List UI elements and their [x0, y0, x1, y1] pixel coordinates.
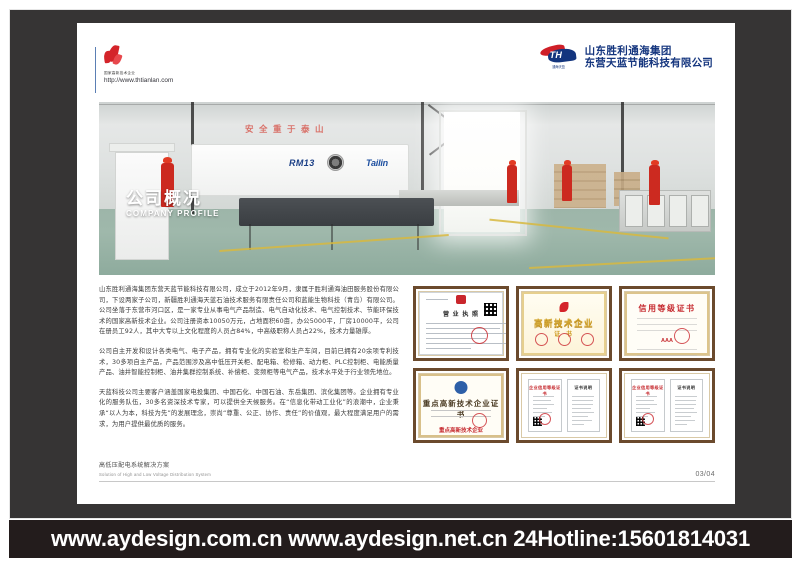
red-seal-icon: [539, 413, 551, 425]
flame-logo-icon: [104, 45, 124, 67]
right-brand-block: TH 通海天蓝 山东胜利通海集团 东营天蓝节能科技有限公司: [539, 44, 713, 70]
certificate-high-tech-enterprise[interactable]: 高新技术企业 证 书: [516, 286, 612, 361]
safety-slogan-banner: 安全重于泰山: [245, 123, 329, 135]
award-badge-icon: [455, 381, 468, 394]
red-seal-icon: [472, 413, 487, 428]
certificate-title: 信用等级证书: [627, 303, 707, 314]
th-monogram-icon: TH 通海天蓝: [539, 44, 579, 70]
footer-titles: 高低压配电系统解决方案 Solution of High and Low Vol…: [99, 462, 211, 478]
dark-stage-backdrop: 国家高新技术企业 http://www.thtianlan.com TH 通海天…: [9, 9, 792, 519]
company-name-block: 山东胜利通海集团 东营天蓝节能科技有限公司: [585, 45, 713, 69]
page-footer: 高低压配电系统解决方案 Solution of High and Low Vol…: [99, 462, 715, 482]
certificate-row-1: 营 业 执 照: [413, 286, 715, 361]
red-seal-icon: [558, 333, 571, 346]
group-name-line: 山东胜利通海集团: [585, 45, 713, 57]
worker-figure: [161, 163, 174, 207]
table-leg: [331, 224, 333, 250]
red-seal-icon: [471, 327, 488, 344]
paragraph-2: 公司自主开发和设计各类电气、电子产品，拥有专业化的实验室和生产车间，目前已拥有2…: [99, 347, 399, 379]
certificate-business-license[interactable]: 营 业 执 照: [413, 286, 509, 361]
company-website-url[interactable]: http://www.thtianlan.com: [104, 76, 264, 85]
certificate-title: 高新技术企业: [524, 317, 604, 329]
page-header: 国家高新技术企业 http://www.thtianlan.com TH 通海天…: [77, 23, 735, 97]
seal-row: [524, 333, 604, 346]
credit-grade-value: AAA: [627, 338, 707, 344]
document-title: 证书说明: [671, 385, 703, 391]
certificate-paired-documents-2[interactable]: 企业信用等级证书 证书说明: [619, 368, 715, 443]
footer-divider: [99, 481, 715, 482]
red-seal-icon: [535, 333, 548, 346]
machine-brand-label: Tailin: [366, 158, 388, 168]
document-page-right: 证书说明: [670, 379, 704, 432]
document-title: 证书说明: [568, 385, 600, 391]
certificate-gallery: 营 业 执 照: [413, 285, 715, 453]
th-monogram-letters: TH: [550, 50, 563, 60]
table-leg: [249, 224, 251, 250]
left-brand-block: 国家高新技术企业 http://www.thtianlan.com: [104, 45, 264, 85]
company-name-line: 东营天蓝节能科技有限公司: [585, 57, 713, 69]
flame-logo-icon: [560, 302, 569, 312]
cabinet-hood: [109, 143, 175, 152]
worker-figure: [649, 165, 660, 205]
page-content: 山东胜利通海集团东营天蓝节能科技有限公司，成立于2012年9月，隶属于胜利通海油…: [99, 285, 715, 453]
certificate-row-2: 重点高新技术企业证书 重点高新技术企业: [413, 368, 715, 443]
worker-figure: [562, 165, 572, 201]
certificate-science-award[interactable]: 重点高新技术企业证书 重点高新技术企业: [413, 368, 509, 443]
certificate-paired-documents-1[interactable]: 企业信用等级证书 证书说明: [516, 368, 612, 443]
photo-ceiling-rail: [99, 104, 715, 105]
switchgear-row: [619, 190, 711, 232]
national-emblem-icon: [456, 295, 466, 304]
company-description-column: 山东胜利通海集团东营天蓝节能科技有限公司，成立于2012年9月，隶属于胜利通海油…: [99, 285, 399, 453]
machine-dial-icon: [327, 154, 344, 171]
document-page-right: 证书说明: [567, 379, 601, 432]
promo-banner: www.aydesign.com.cn www.aydesign.net.cn …: [9, 520, 792, 558]
punch-machine: [191, 144, 409, 196]
certificate-credit-rating[interactable]: 信用等级证书 AAA: [619, 286, 715, 361]
document-page-left: 企业信用等级证书: [631, 379, 665, 432]
th-monogram-subtext: 通海天蓝: [545, 64, 573, 69]
brochure-page: 国家高新技术企业 http://www.thtianlan.com TH 通海天…: [77, 23, 735, 504]
award-designation: 重点高新技术企业: [421, 426, 501, 434]
certificate-title: 营 业 执 照: [420, 309, 502, 318]
worker-figure: [507, 165, 517, 203]
machine-model-label: RM13: [289, 158, 315, 168]
red-seal-icon: [581, 333, 594, 346]
red-seal-icon: [674, 328, 690, 344]
factory-photo: 安全重于泰山 RM13 Tailin: [99, 102, 715, 275]
document-page-left: 企业信用等级证书: [528, 379, 562, 432]
red-seal-icon: [642, 413, 654, 425]
machine-worktable: [239, 198, 434, 226]
footer-title-en: Solution of High and Low Voltage Distrib…: [99, 471, 211, 478]
paragraph-3: 天蓝科技公司主要客户涵盖国家电投集团、中国石化、中国石油、东岳集团、滨化集团等。…: [99, 388, 399, 430]
footer-title-cn: 高低压配电系统解决方案: [99, 462, 211, 471]
page-number: 03/04: [695, 471, 715, 478]
promo-banner-text: www.aydesign.com.cn www.aydesign.net.cn …: [51, 526, 750, 552]
paragraph-1: 山东胜利通海集团东营天蓝节能科技有限公司，成立于2012年9月，隶属于胜利通海油…: [99, 285, 399, 338]
screenshot-canvas: 国家高新技术企业 http://www.thtianlan.com TH 通海天…: [0, 0, 801, 563]
